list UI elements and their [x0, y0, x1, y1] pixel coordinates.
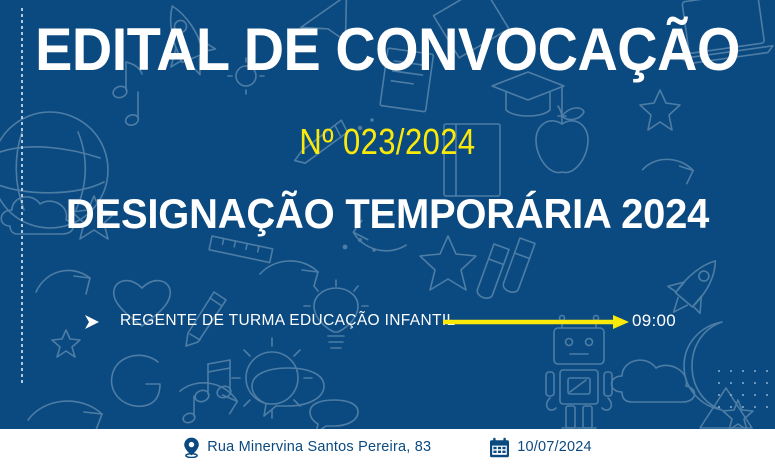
location-pin-icon [183, 437, 200, 458]
list-item: REGENTE DE TURMA EDUCAÇÃO INFANTIL 09:00 [0, 306, 775, 338]
footer-address-text: Rua Minervina Santos Pereira, 83 [207, 438, 431, 456]
calendar-icon [489, 437, 510, 458]
role-label: REGENTE DE TURMA EDUCAÇÃO INFANTIL [120, 310, 455, 332]
speech-bubble-icon [252, 368, 324, 416]
curved-arrow-icon [260, 261, 318, 286]
music-note-icon [194, 360, 233, 403]
footer-spacer [431, 447, 489, 448]
star-icon [420, 236, 476, 290]
curved-arrow-icon [36, 270, 90, 294]
time-value: 09:00 [632, 309, 676, 333]
sun-icon [232, 338, 312, 418]
footer-bar: Rua Minervina Santos Pereira, 83 10/07/2… [0, 429, 775, 465]
footer-date-text: 10/07/2024 [517, 438, 592, 456]
poster-body: EDITAL DE CONVOCAÇÃO Nº 023/2024 DESIGNA… [0, 0, 775, 429]
footer-address: Rua Minervina Santos Pereira, 83 [183, 437, 431, 458]
page-title: EDITAL DE CONVOCAÇÃO [27, 19, 748, 81]
curved-arrow-icon [28, 401, 102, 429]
cloud-icon [612, 360, 695, 402]
edict-number: Nº 023/2024 [54, 122, 721, 162]
ruler-icon [209, 236, 273, 263]
arrow-right-icon [443, 314, 629, 330]
curved-arrow-icon [178, 376, 240, 415]
music-note-icon [182, 396, 196, 424]
poster-canvas: EDITAL DE CONVOCAÇÃO Nº 023/2024 DESIGNA… [0, 0, 775, 465]
dot-grid [713, 365, 775, 417]
footer-date: 10/07/2024 [489, 437, 592, 458]
page-subtitle: DESIGNAÇÃO TEMPORÁRIA 2024 [19, 191, 755, 237]
letter-g-icon [112, 355, 160, 406]
speech-bubble-icon [310, 400, 358, 429]
triangle-right-icon [83, 313, 101, 331]
test-tube-icon [502, 238, 536, 294]
test-tube-icon [476, 244, 510, 300]
